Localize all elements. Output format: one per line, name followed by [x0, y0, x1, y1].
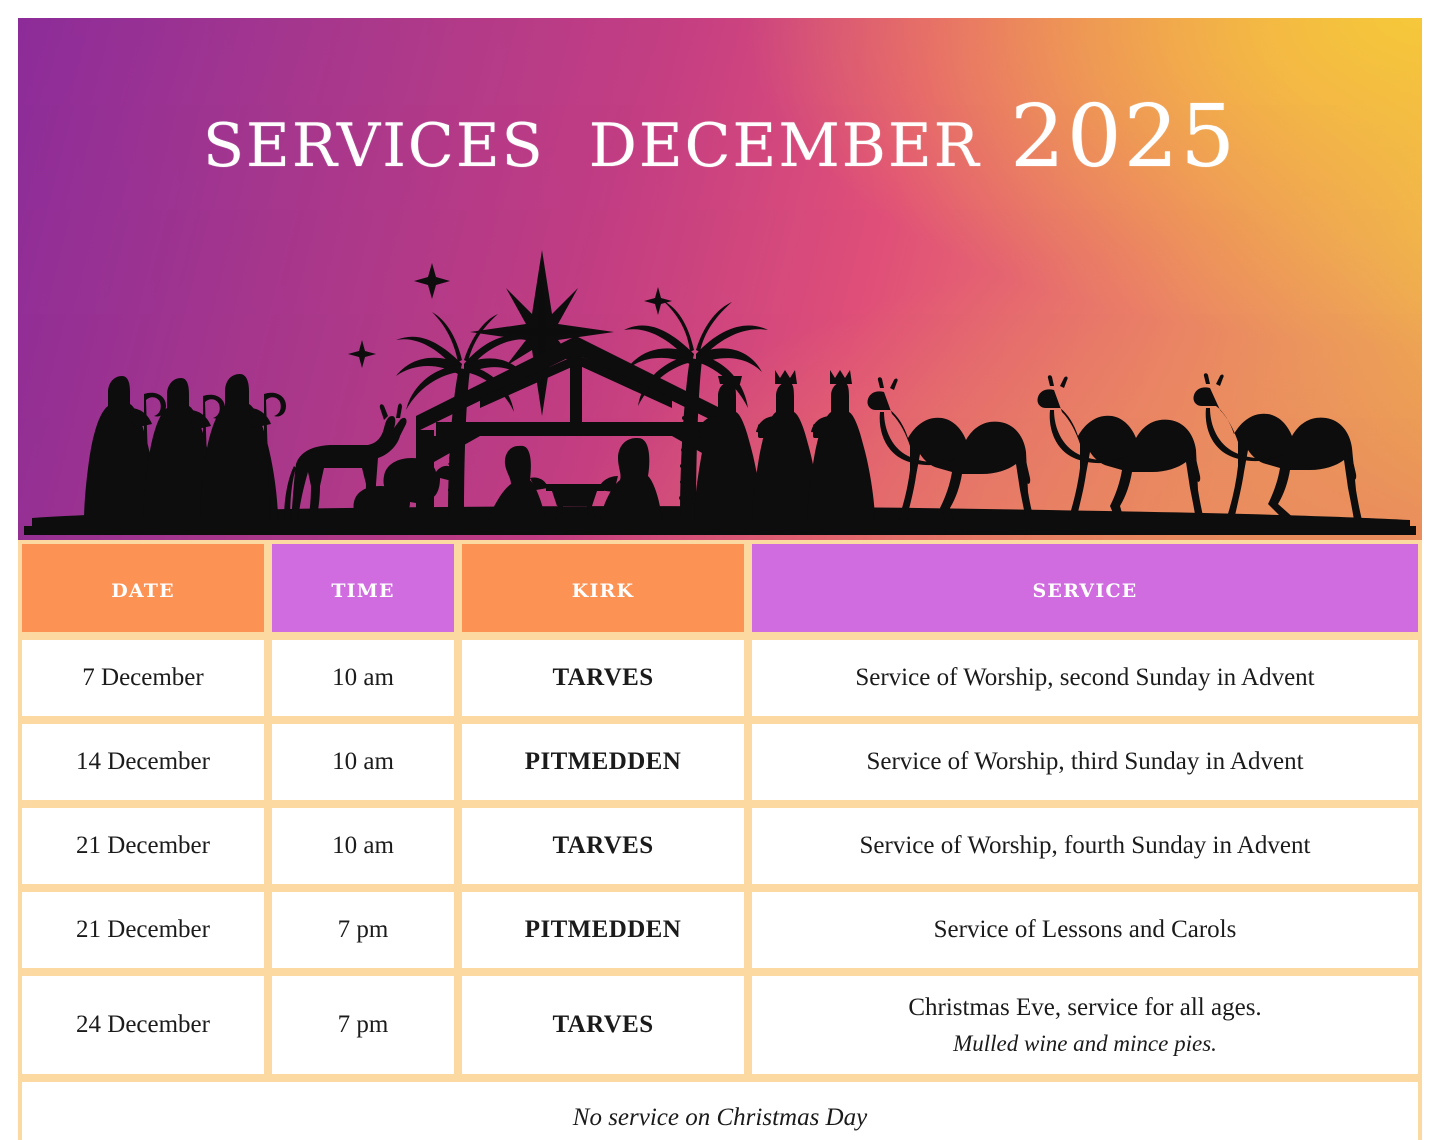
- hero-banner: ServicesDecember 2025: [18, 18, 1422, 540]
- cell-kirk: PITMEDDEN: [458, 720, 748, 804]
- cell-service-main: Christmas Eve, service for all ages.: [908, 994, 1261, 1021]
- services-schedule: Date Time Kirk Service 7 December 10 am …: [18, 540, 1422, 1140]
- cell-date: 7 December: [18, 636, 268, 720]
- cell-kirk: TARVES: [458, 636, 748, 720]
- small-star-right: [644, 287, 672, 315]
- cell-service-note: Mulled wine and mince pies.: [752, 1028, 1418, 1059]
- cell-date: 21 December: [18, 888, 268, 972]
- cell-time: 7 pm: [268, 972, 458, 1078]
- column-header-time: Time: [268, 540, 458, 636]
- cell-time: 10 am: [268, 636, 458, 720]
- table-row: 24 December 7 pm TARVES Christmas Eve, s…: [18, 972, 1422, 1078]
- wise-man-3: [807, 370, 875, 520]
- nativity-silhouette-scene: [18, 240, 1422, 540]
- column-header-kirk: Kirk: [458, 540, 748, 636]
- cell-service: Service of Worship, second Sunday in Adv…: [748, 636, 1422, 720]
- camel-1: [867, 377, 1034, 520]
- table-row: 21 December 10 am TARVES Service of Wors…: [18, 804, 1422, 888]
- cell-kirk: PITMEDDEN: [458, 888, 748, 972]
- schedule-table: Date Time Kirk Service 7 December 10 am …: [18, 540, 1422, 1140]
- table-row: 7 December 10 am TARVES Service of Worsh…: [18, 636, 1422, 720]
- title-month-year: December 2025: [589, 87, 1237, 187]
- footer-note: No service on Christmas Day: [18, 1078, 1422, 1140]
- cell-kirk: TARVES: [458, 804, 748, 888]
- table-row: 21 December 7 pm PITMEDDEN Service of Le…: [18, 888, 1422, 972]
- camel-2: [1037, 375, 1204, 520]
- cell-service: Service of Worship, fourth Sunday in Adv…: [748, 804, 1422, 888]
- small-star-left: [414, 263, 450, 299]
- table-footer-row: No service on Christmas Day: [18, 1078, 1422, 1140]
- cell-service: Service of Worship, third Sunday in Adve…: [748, 720, 1422, 804]
- camel-3: [1193, 373, 1362, 520]
- cell-time: 10 am: [268, 804, 458, 888]
- cell-kirk: TARVES: [458, 972, 748, 1078]
- cell-service: Christmas Eve, service for all ages. Mul…: [748, 972, 1422, 1078]
- table-header-row: Date Time Kirk Service: [18, 540, 1422, 636]
- page-title: ServicesDecember 2025: [18, 94, 1422, 180]
- small-star-far-left: [348, 340, 376, 368]
- cell-service: Service of Lessons and Carols: [748, 888, 1422, 972]
- cell-time: 10 am: [268, 720, 458, 804]
- column-header-service: Service: [748, 540, 1422, 636]
- services-poster: ServicesDecember 2025: [0, 0, 1440, 1140]
- cell-date: 24 December: [18, 972, 268, 1078]
- column-header-date: Date: [18, 540, 268, 636]
- joseph-figure: [598, 438, 662, 520]
- table-row: 14 December 10 am PITMEDDEN Service of W…: [18, 720, 1422, 804]
- wise-man-1: [694, 376, 762, 520]
- cell-time: 7 pm: [268, 888, 458, 972]
- mary-figure: [488, 446, 548, 520]
- ground-baseline: [24, 526, 1416, 535]
- cell-date: 14 December: [18, 720, 268, 804]
- title-services: Services: [203, 87, 545, 187]
- cell-date: 21 December: [18, 804, 268, 888]
